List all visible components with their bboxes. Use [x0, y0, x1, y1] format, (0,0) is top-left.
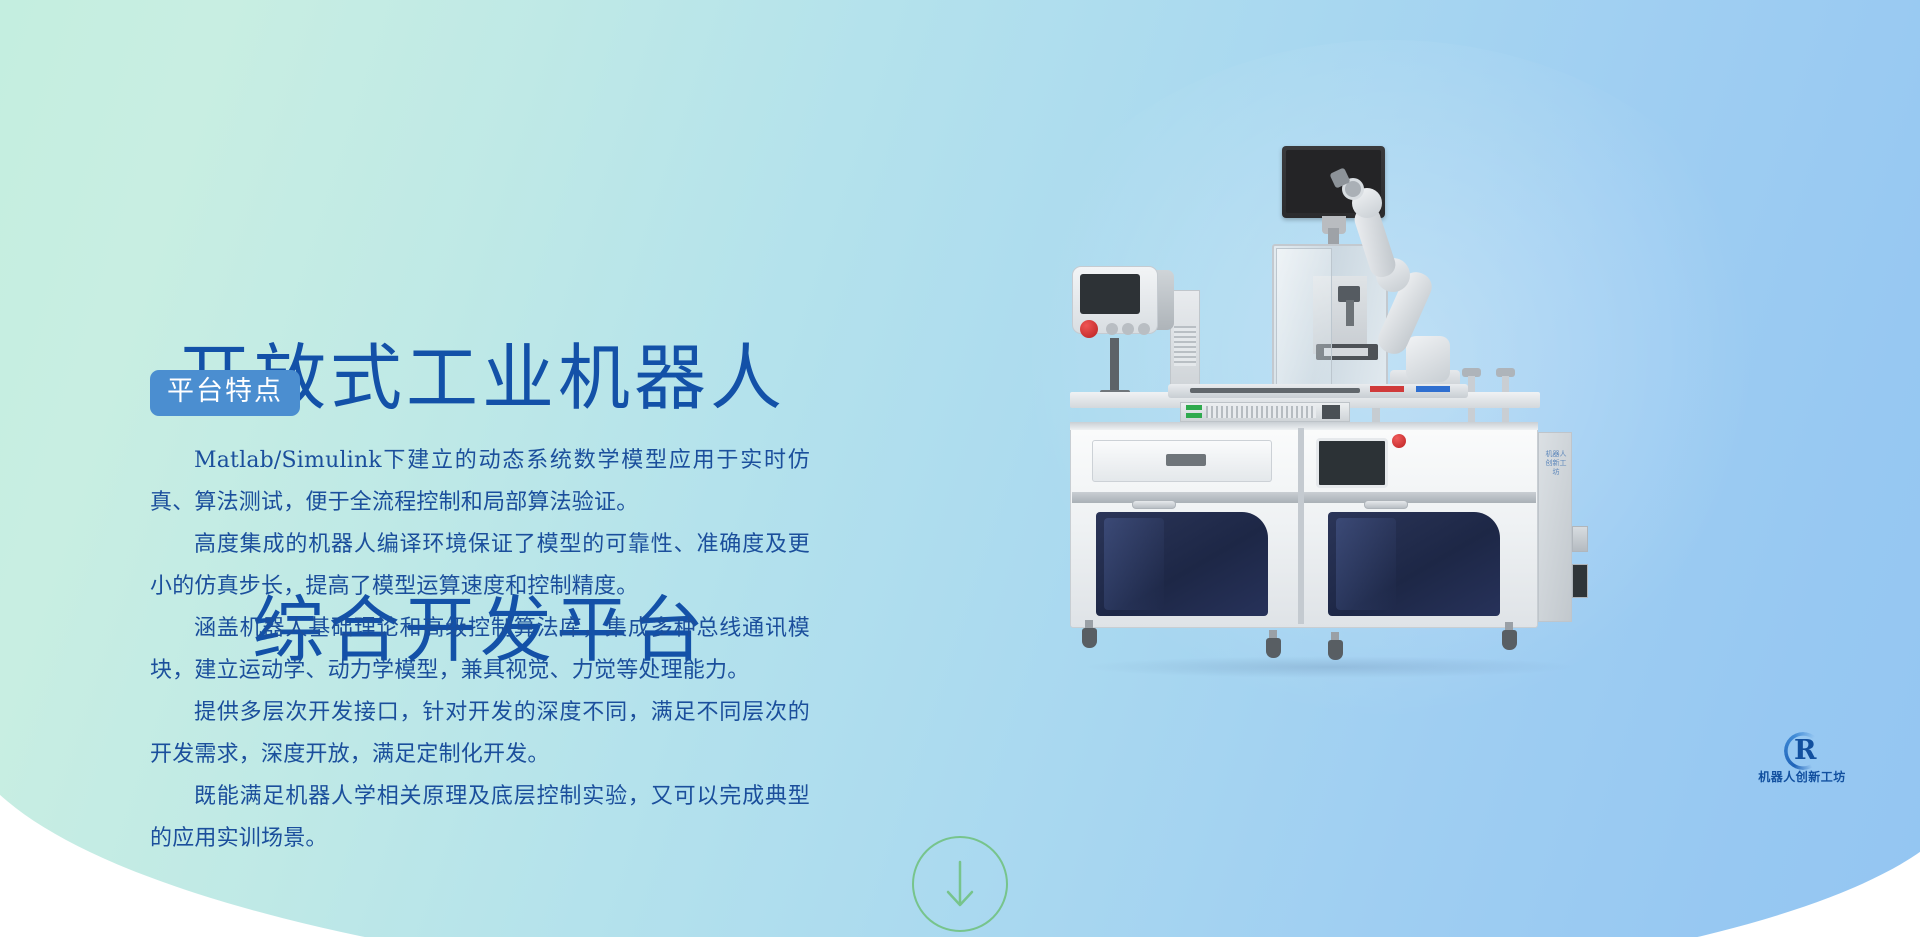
- scroll-down-button[interactable]: [912, 836, 1008, 932]
- controller-module: [1322, 405, 1340, 419]
- conveyor-marker-red: [1370, 386, 1404, 392]
- feature-list: Matlab/Simulink下建立的动态系统数学模型应用于实时仿真、算法测试，…: [150, 440, 810, 860]
- feature-paragraph: Matlab/Simulink下建立的动态系统数学模型应用于实时仿真、算法测试，…: [150, 440, 810, 524]
- caster-wheel: [1502, 630, 1517, 650]
- side-panel-brand-text: 机器人创新工坊: [1544, 450, 1568, 477]
- cabinet-bay-divider: [1298, 428, 1304, 624]
- enclosure-glass-door: [1276, 248, 1332, 386]
- enclosure-spindle: [1346, 300, 1354, 326]
- controller-rack-vents: [1206, 406, 1316, 418]
- cabinet-top-edge: [1070, 422, 1538, 430]
- hero-banner: 开放式工业机器人 综合开发平台 平台特点 Matlab/Simulink下建立的…: [0, 0, 1920, 937]
- cabinet-emergency-stop: [1392, 434, 1406, 448]
- product-shadow: [1080, 656, 1580, 678]
- pendant-button: [1138, 323, 1150, 335]
- pendant-support-post: [1110, 338, 1119, 394]
- monitor-mast: [1328, 228, 1339, 244]
- cabinet-touch-panel: [1316, 438, 1388, 488]
- section-badge: 平台特点: [150, 370, 300, 416]
- cabinet-door-left-reflection: [1104, 518, 1164, 610]
- pendant-button: [1106, 323, 1118, 335]
- emergency-stop-button: [1080, 320, 1098, 338]
- feature-paragraph: 高度集成的机器人编译环境保证了模型的可靠性、准确度及更小的仿真步长，提高了模型运…: [150, 524, 810, 608]
- caster-wheel: [1266, 638, 1281, 658]
- teach-pendant-screen: [1080, 274, 1140, 314]
- pendant-button: [1122, 323, 1134, 335]
- cabinet-utility-box: [1572, 526, 1588, 552]
- brand-logo-text: 机器人创新工坊: [1746, 770, 1858, 784]
- cabinet-utility-panel: [1572, 564, 1588, 598]
- feature-paragraph: 提供多层次开发接口，针对开发的深度不同，满足不同层次的开发需求，深度开放，满足定…: [150, 692, 810, 776]
- conveyor-slot: [1190, 388, 1360, 393]
- brand-logo: R 机器人创新工坊: [1406, 436, 1518, 490]
- feature-paragraph: 涵盖机器人基础理论和高级控制算法库，集成多种总线通讯模块，建立运动学、动力学模型…: [150, 608, 810, 692]
- cabinet-door-left-handle: [1132, 500, 1176, 509]
- arrow-down-icon: [914, 838, 1006, 930]
- controller-status-led: [1186, 405, 1202, 410]
- cabinet-door-right-reflection: [1336, 518, 1396, 610]
- conveyor-marker-blue: [1416, 386, 1450, 392]
- rear-column-vents: [1174, 326, 1196, 366]
- cabinet-door-right-handle: [1364, 500, 1408, 509]
- brand-logo-mark: R: [1794, 736, 1814, 766]
- feature-paragraph: 既能满足机器人学相关原理及底层控制实验，又可以完成典型的应用实训场景。: [150, 776, 810, 860]
- product-image: R 机器人创新工坊 机器人创新工坊: [1070, 140, 1670, 780]
- controller-status-led: [1186, 413, 1202, 418]
- caster-wheel: [1082, 628, 1097, 648]
- cabinet-drawer-handle: [1166, 454, 1206, 466]
- robot-arm-shoulder: [1406, 336, 1450, 382]
- text-column: 开放式工业机器人 综合开发平台 平台特点 Matlab/Simulink下建立的…: [0, 0, 980, 937]
